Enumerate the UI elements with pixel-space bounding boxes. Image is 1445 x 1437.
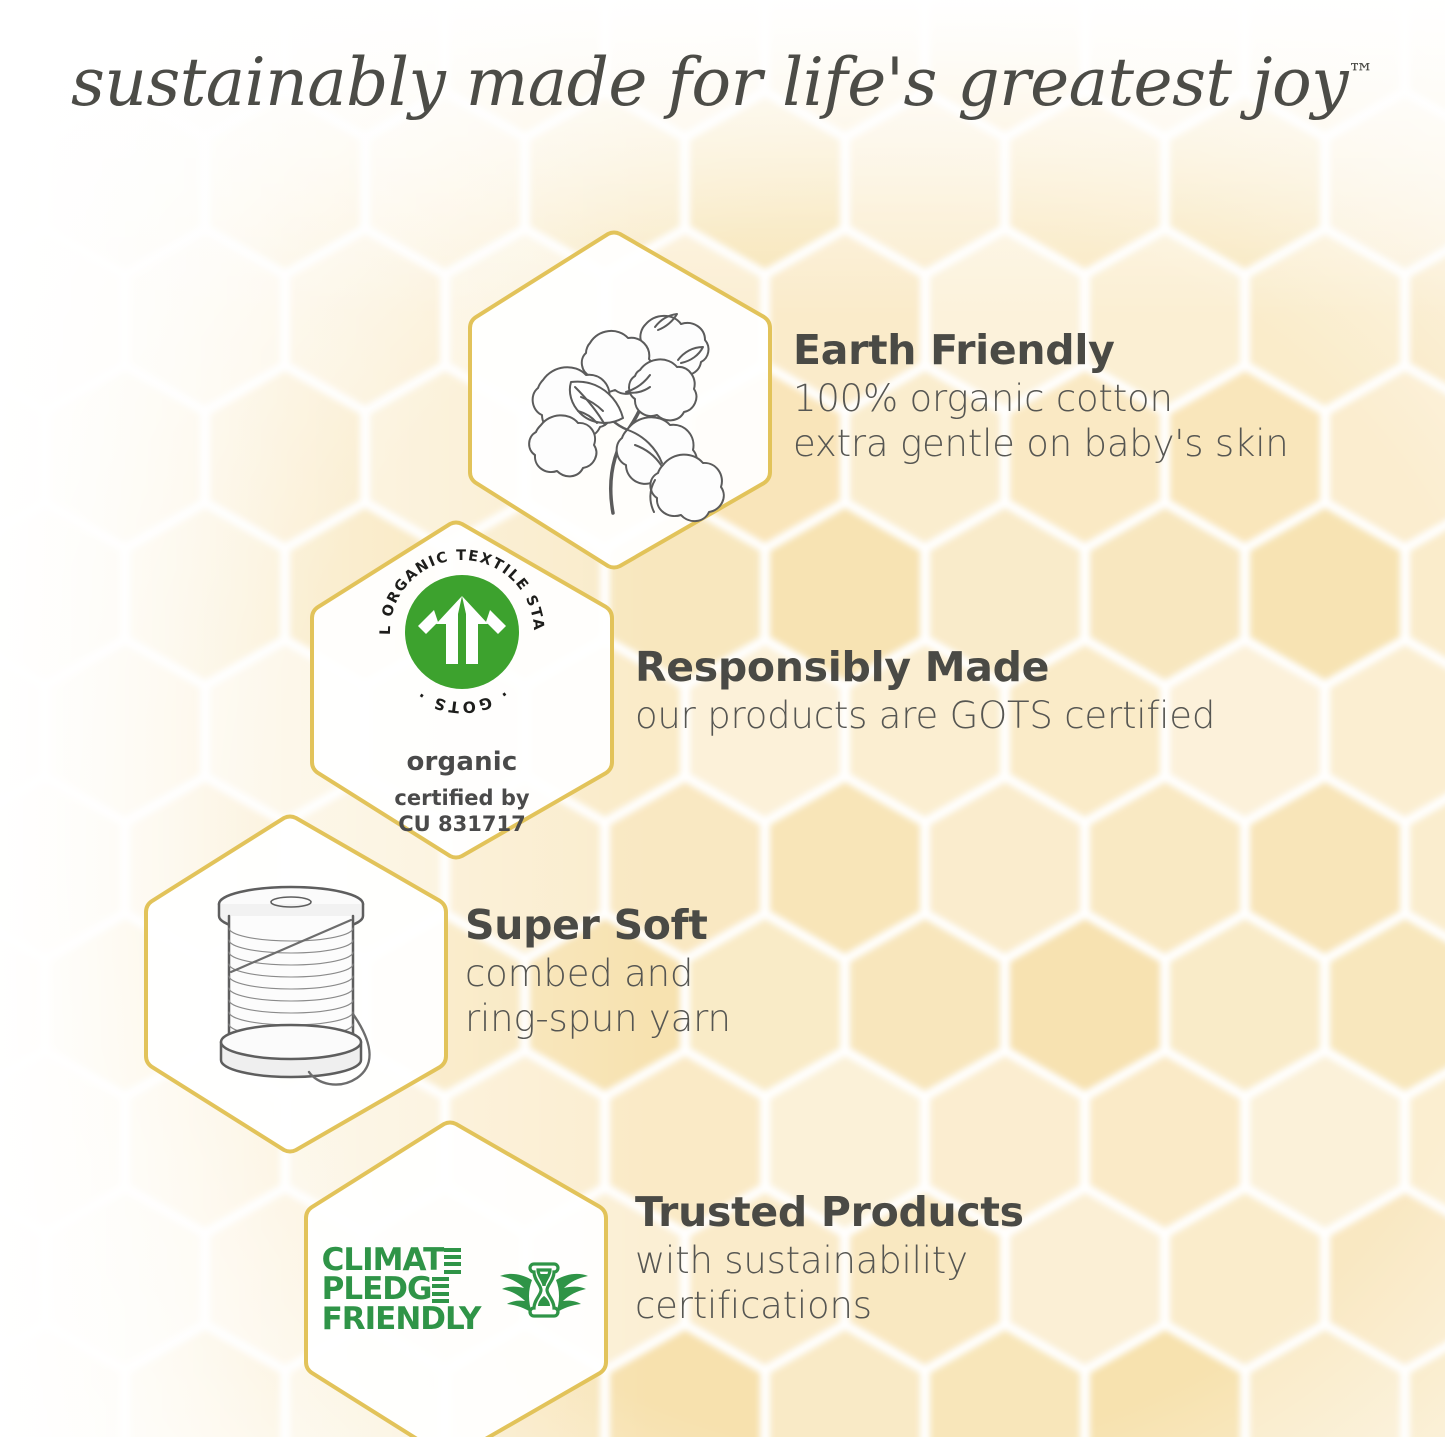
feature-title: Trusted Products [635, 1190, 1024, 1234]
cpf-line-3: FRIENDLY [322, 1305, 481, 1334]
feature-text-super-soft: Super Soft combed and ring-spun yarn [465, 903, 731, 1042]
feature-line-2: extra gentle on baby's skin [793, 421, 1289, 466]
hexagon-tile-spool [140, 812, 452, 1156]
winged-hourglass-icon [498, 1250, 590, 1330]
gots-certified-by: certified by [366, 786, 558, 812]
feature-title: Super Soft [465, 903, 731, 947]
hexagon-tile-climate-pledge: CLIMAT PLEDG FRIENDLY [300, 1118, 612, 1437]
feature-text-earth-friendly: Earth Friendly 100% organic cotton extra… [793, 328, 1289, 467]
feature-title: Earth Friendly [793, 328, 1289, 372]
feature-line-1: combed and [465, 951, 731, 996]
feature-line-1: our products are GOTS certified [635, 693, 1215, 738]
gots-seal-icon: GLOBAL ORGANIC TEXTILE STANDARD · GOTS · [366, 536, 558, 728]
gots-ring-text-bottom: · GOTS · [412, 685, 511, 716]
feature-text-responsibly-made: Responsibly Made our products are GOTS c… [635, 645, 1215, 738]
feature-title: Responsibly Made [635, 645, 1215, 689]
feature-text-trusted-products: Trusted Products with sustainability cer… [635, 1190, 1024, 1329]
headline-text: sustainably made for life's greatest joy [71, 44, 1348, 121]
feature-line-2: ring-spun yarn [465, 996, 731, 1041]
feature-line-1: with sustainability [635, 1238, 1024, 1283]
feature-line-2: certifications [635, 1283, 1024, 1328]
climate-pledge-friendly-icon: CLIMAT PLEDG FRIENDLY [300, 1118, 612, 1437]
thread-spool-icon [140, 812, 452, 1156]
climate-pledge-wordmark: CLIMAT PLEDG FRIENDLY [322, 1246, 481, 1334]
hexagon-tile-gots: GLOBAL ORGANIC TEXTILE STANDARD · GOTS ·… [306, 518, 618, 862]
gots-certification-icon: GLOBAL ORGANIC TEXTILE STANDARD · GOTS ·… [306, 518, 618, 862]
sustainability-infographic: sustainably made for life's greatest joy… [0, 0, 1445, 1437]
cpf-bars-icon [444, 1248, 461, 1274]
trademark-symbol: ™ [1348, 59, 1374, 89]
cpf-bars-icon [432, 1277, 449, 1303]
feature-line-1: 100% organic cotton [793, 376, 1289, 421]
gots-organic-label: organic [366, 747, 558, 777]
page-headline: sustainably made for life's greatest joy… [0, 44, 1445, 121]
